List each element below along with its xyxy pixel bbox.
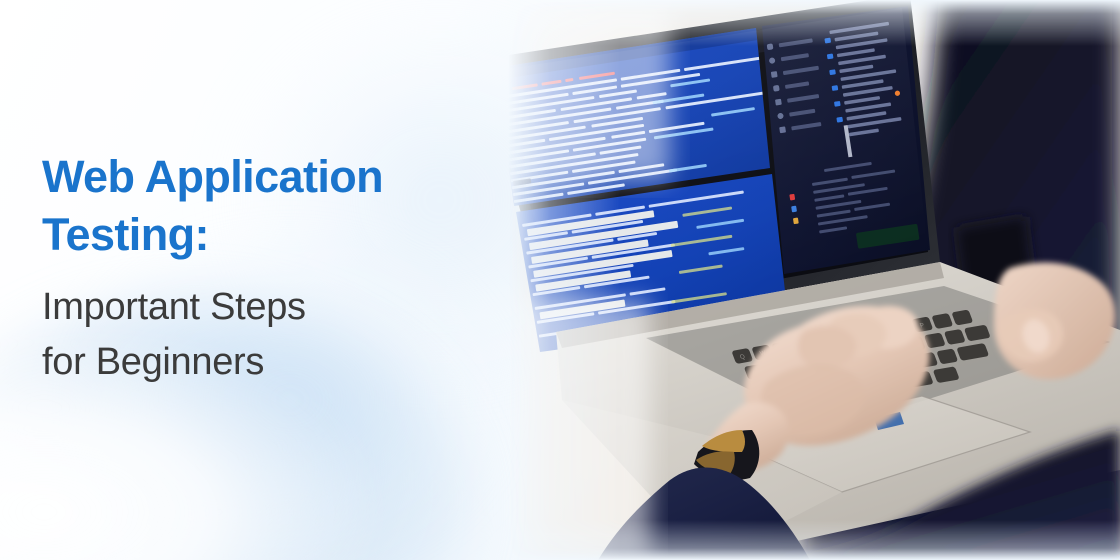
- subhead-line-1: Important Steps: [42, 286, 306, 328]
- desk-left-fade: [470, 300, 650, 560]
- headline-block: Web Application Testing: Important Steps…: [42, 148, 492, 390]
- page-subtitle: Important Steps for Beginners: [42, 280, 492, 390]
- hero-banner: Web Application Testing: Important Steps…: [0, 0, 1120, 560]
- headline-line-2: Testing:: [42, 209, 209, 260]
- hero-photo: QWER TYUI OP ASDF GHJK L ZXCV BNM: [470, 0, 1120, 560]
- page-title: Web Application Testing:: [42, 148, 492, 264]
- headline-line-1: Web Application: [42, 151, 383, 202]
- subhead-line-2: for Beginners: [42, 341, 264, 383]
- desk-top-fade: [470, 0, 670, 180]
